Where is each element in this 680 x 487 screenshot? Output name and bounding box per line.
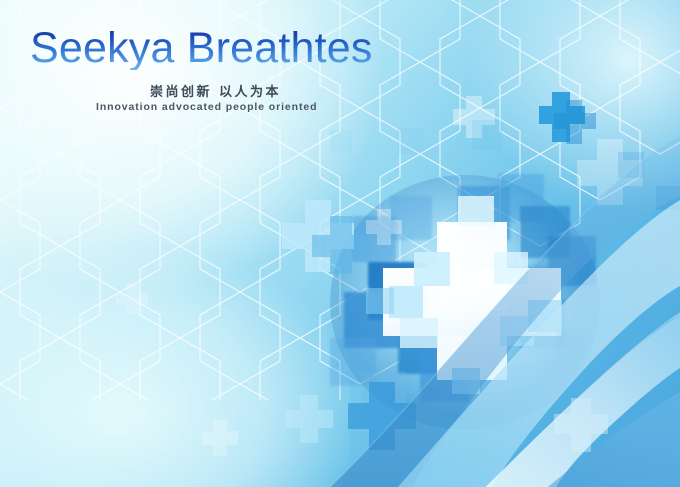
slogan-chinese: 崇尚创新 以人为本 <box>150 81 281 100</box>
ribbon-swooshes <box>0 0 680 487</box>
glow-top-right <box>470 0 680 210</box>
glow-bottom-left <box>0 250 350 487</box>
center-glow <box>330 175 600 430</box>
page-title: Seekya Breathtes <box>30 27 373 70</box>
mosaic-blocks-layer <box>0 0 680 487</box>
slogan-english: Innovation advocated people oriented <box>96 101 317 113</box>
poster-canvas: Seekya Breathtes 崇尚创新 以人为本 Innovation ad… <box>0 0 680 487</box>
